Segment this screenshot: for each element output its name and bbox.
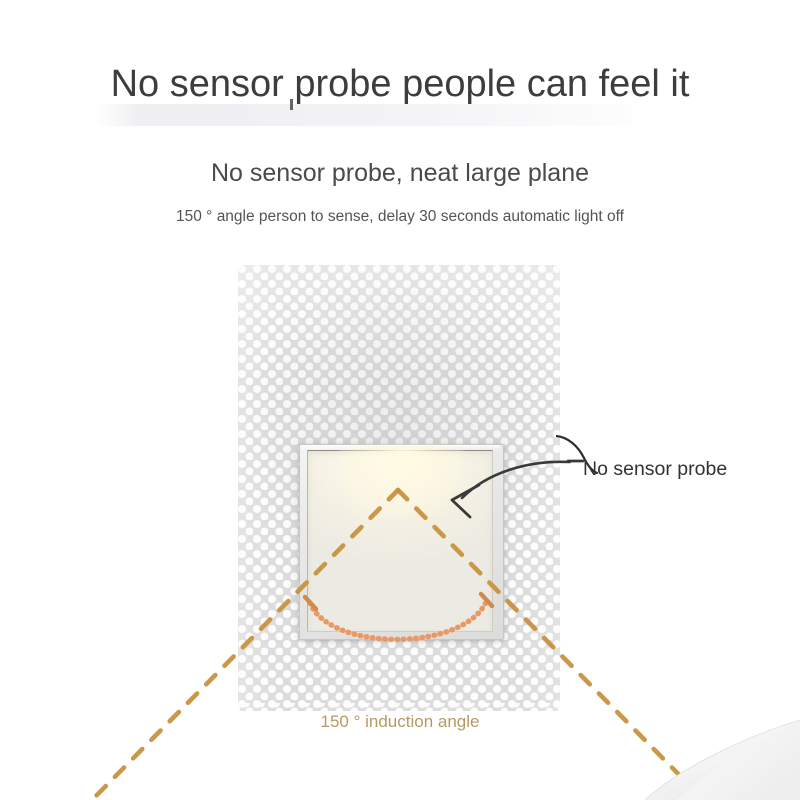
page-root: No sensor probe people can feel it No se… [0,0,800,800]
page-description: 150 ° angle person to sense, delay 30 se… [0,205,800,229]
page-title: No sensor probe people can feel it [0,60,800,108]
no-sensor-probe-callout-label: No sensor probe [583,456,727,482]
induction-angle-caption: 150 ° induction angle [0,710,800,734]
switch-faceplate-surface [307,450,493,632]
page-subtitle: No sensor probe, neat large plane [0,156,800,190]
